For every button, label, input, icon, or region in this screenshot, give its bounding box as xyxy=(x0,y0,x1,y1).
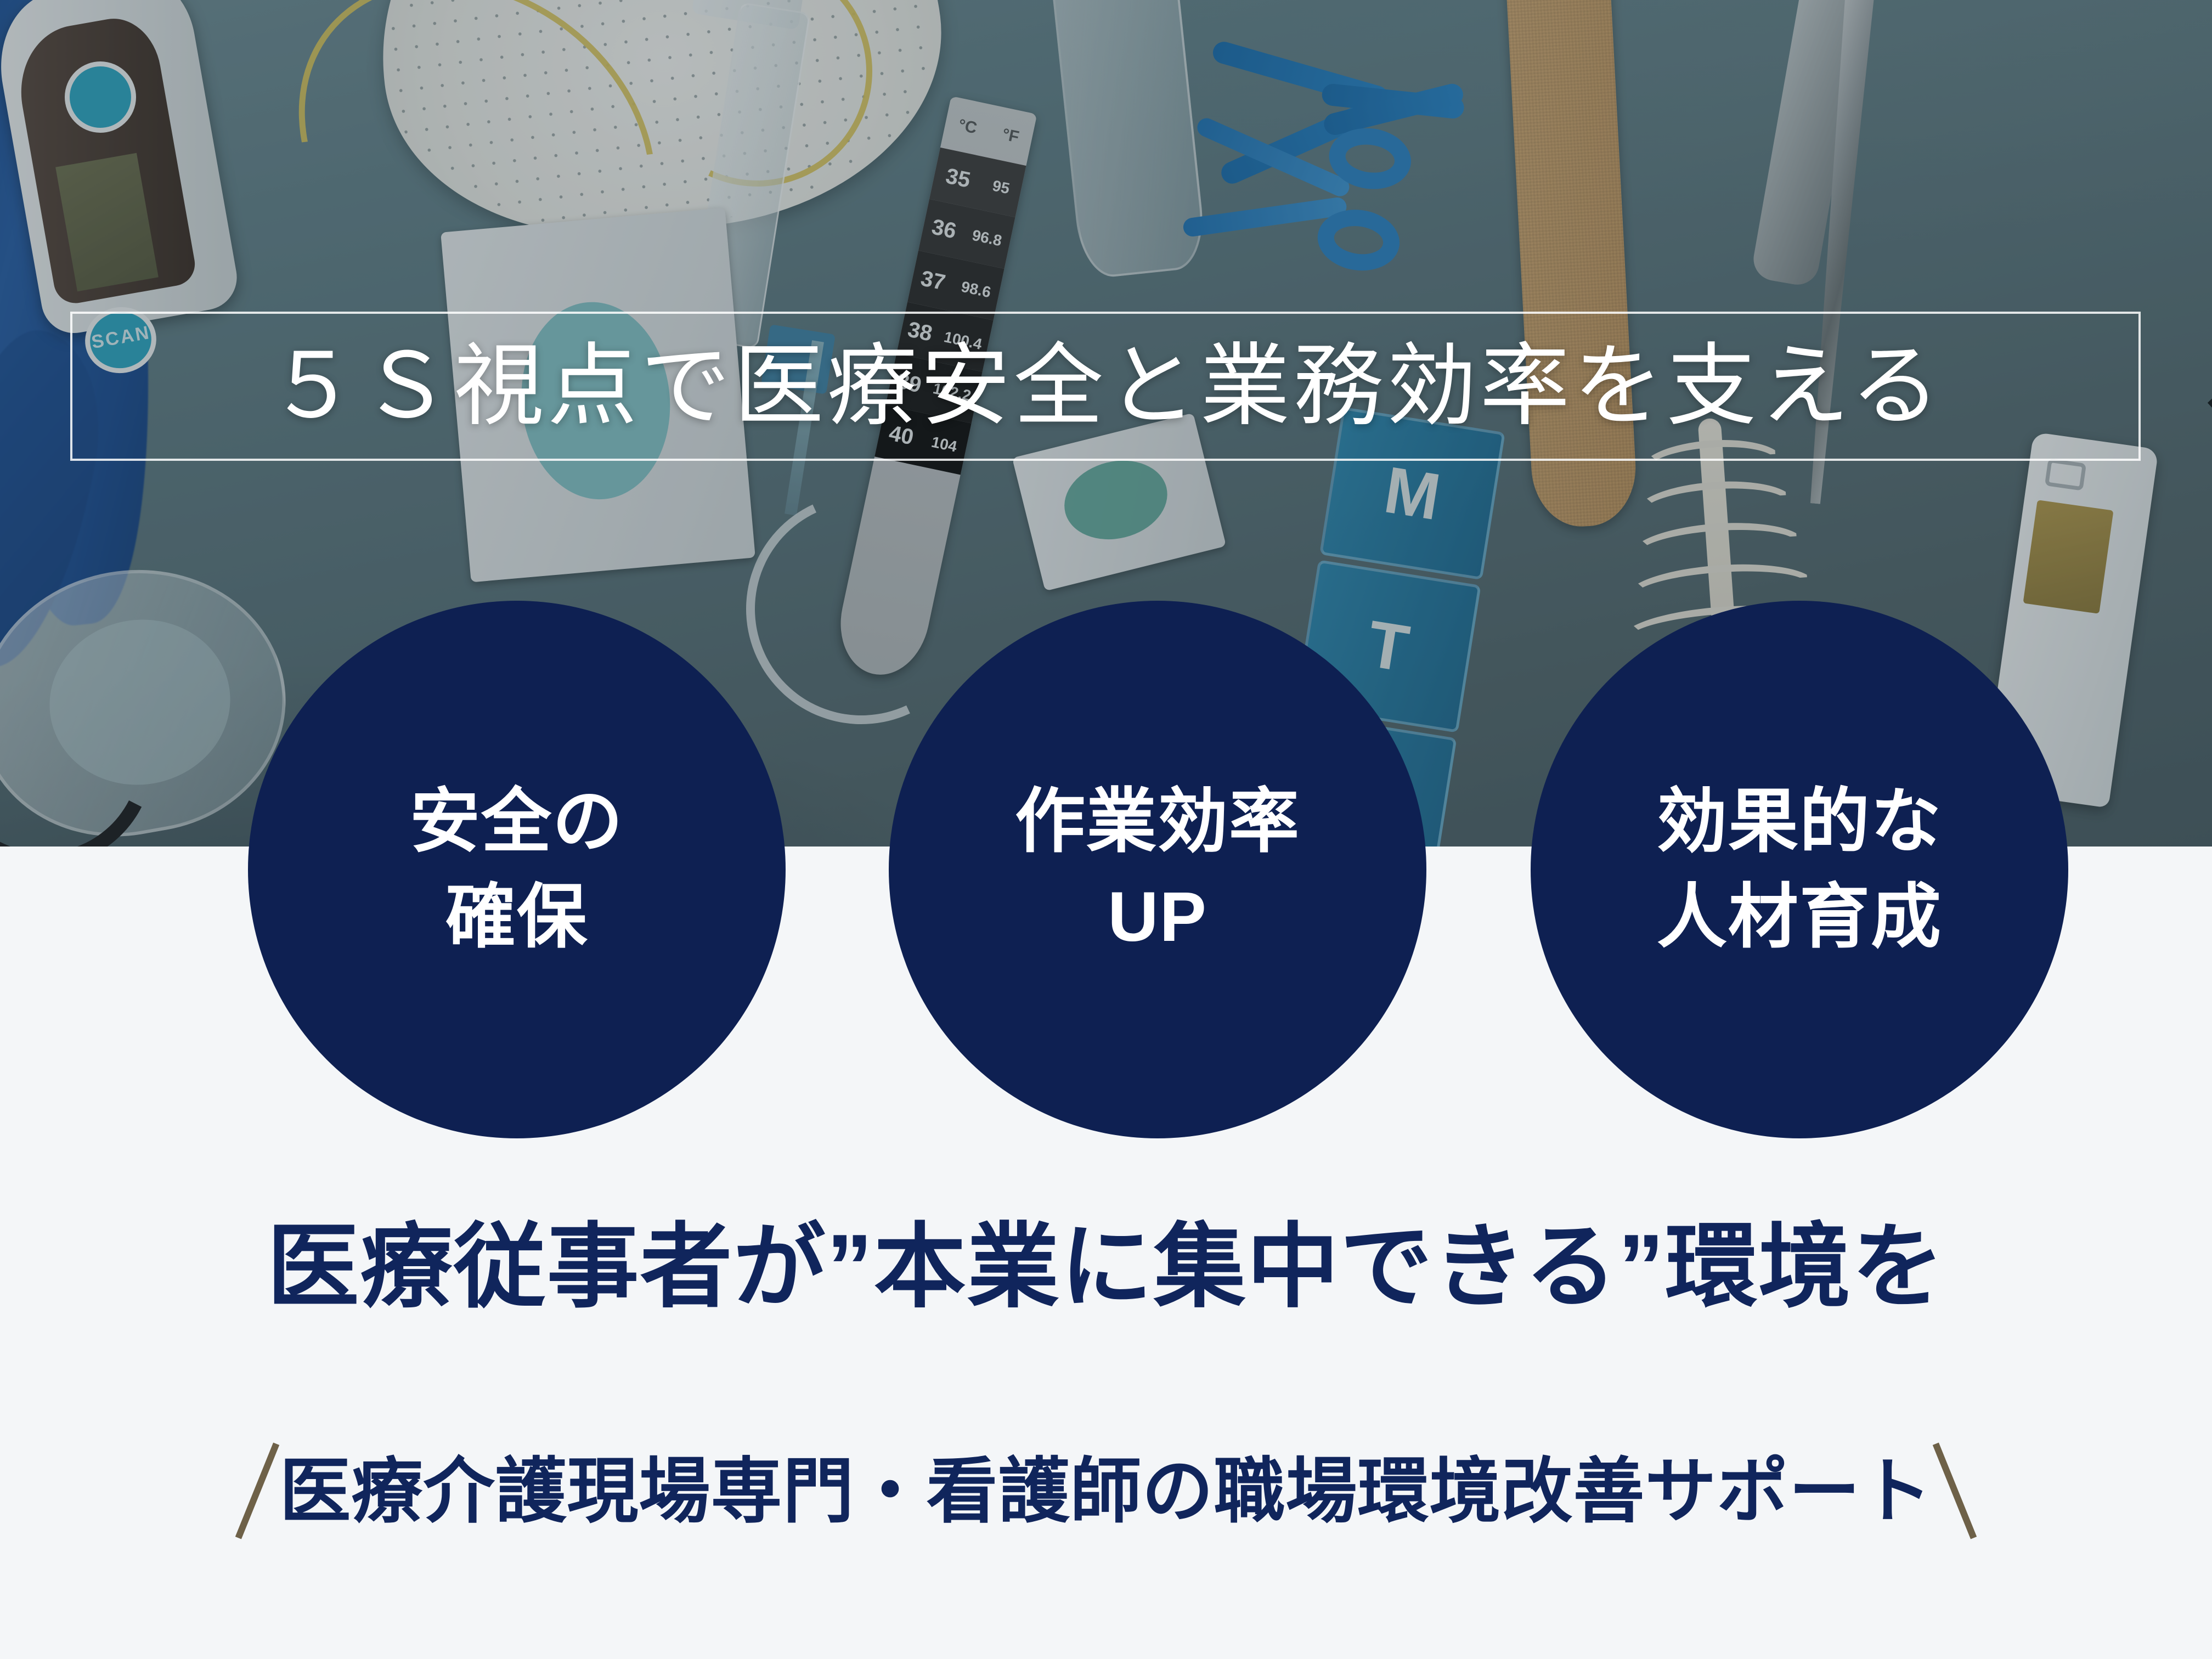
benefit-circle-safety-line2: 確保 xyxy=(445,870,588,965)
subline-row: 医療介護現場専門・看護師の職場環境改善サポート xyxy=(0,1440,2212,1542)
benefit-circle-safety[interactable]: 安全の 確保 xyxy=(248,601,786,1138)
subline-text: 医療介護現場専門・看護師の職場環境改善サポート xyxy=(279,1455,1932,1527)
benefit-circle-training-line2: 人材育成 xyxy=(1657,870,1942,965)
benefit-circle-efficiency-line1: 作業効率 xyxy=(1015,774,1300,870)
benefit-circle-efficiency-line2: UP xyxy=(1108,870,1207,965)
slash-right-icon xyxy=(1932,1442,1976,1539)
page-title: ５Ｓ視点で医療安全と業務効率を支える xyxy=(267,341,1943,431)
title-frame: ５Ｓ視点で医療安全と業務効率を支える xyxy=(70,312,2141,461)
main-headline: 医療従事者が”本業に集中できる”環境を xyxy=(0,1221,2212,1313)
benefit-circle-training-line1: 効果的な xyxy=(1657,774,1942,870)
benefit-circle-efficiency[interactable]: 作業効率 UP xyxy=(889,601,1426,1138)
benefit-circles: 安全の 確保 作業効率 UP 効果的な 人材育成 xyxy=(0,601,2212,1138)
benefit-circle-safety-line1: 安全の xyxy=(410,774,624,870)
slide-canvas: SCAN °C°F35953696.83798.638100.439102.24… xyxy=(0,0,2212,1659)
slash-left-icon xyxy=(235,1442,279,1539)
benefit-circle-training[interactable]: 効果的な 人材育成 xyxy=(1531,601,2068,1138)
